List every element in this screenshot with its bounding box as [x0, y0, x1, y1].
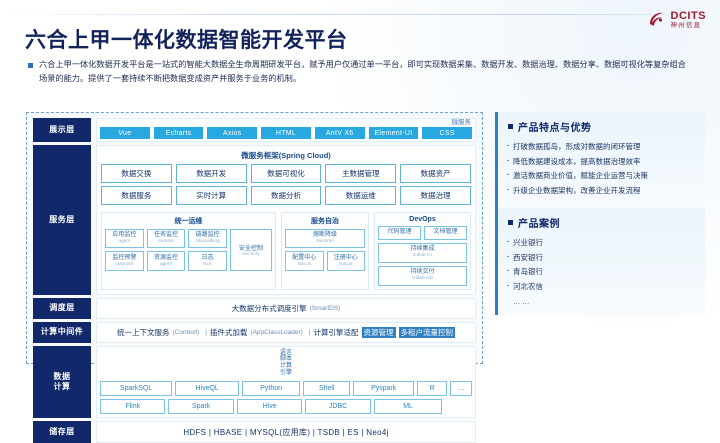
bullet-square-icon — [508, 124, 513, 129]
storage-sep: | — [209, 428, 211, 437]
storage-body: HDFS | HBASE | MYSQL(应用库) | TSDB | ES | … — [96, 421, 476, 443]
mw-part3-cn: 计算引擎适配 — [314, 327, 359, 338]
engine-chip[interactable]: Spark — [168, 399, 233, 414]
language-chip[interactable]: R — [417, 381, 447, 396]
layer-label-compute: 数据 计算 — [33, 346, 91, 419]
side-row2-l1: 计算 — [280, 363, 292, 369]
card-product-features: 产品特点与优势 打破数据孤岛，形成对数据的闭环管理 降低数据建设成本，提高数据治… — [495, 112, 705, 208]
layer-service: 服务层 微服务框架(Spring Cloud) 数据交换 数据开发 数据可视化 … — [33, 145, 476, 295]
schedule-text-en: (SmartDS) — [310, 305, 341, 312]
storage-items: HDFS | HBASE | MYSQL(应用库) | TSDB | ES | … — [97, 422, 475, 442]
case-item: 西安银行 — [508, 251, 695, 266]
language-chip-more[interactable]: … — [450, 381, 472, 396]
header-divider — [0, 14, 720, 15]
card-title: 产品案例 — [518, 215, 560, 230]
tech-tag[interactable]: CSS — [422, 127, 472, 139]
ops-item-en: monitor — [148, 239, 185, 245]
middleware-text: 统一上下文服务 (Context) | 插件式加载 (AppClassLoade… — [97, 323, 475, 342]
feature-item: 激活数据商业价值，赋能企业运营与决策 — [508, 169, 695, 184]
layer-middleware: 计算中间件 统一上下文服务 (Context) | 插件式加载 (AppClas… — [33, 322, 476, 343]
compute-side-labels: 语言 脚本 计算 引擎 — [100, 350, 472, 378]
group-service-autonomy: 服务自治 熔断降级 Sentinel 配置中心 — [281, 212, 369, 290]
devops-item-cn: 代码管理 — [379, 229, 420, 236]
dcits-logo-en: DCITS — [671, 11, 707, 22]
devops-item[interactable]: 持续集成 Gitlab-CI — [378, 243, 467, 263]
compute-main: SparkSQL HiveQL Python Shell Pyspark R …… — [100, 381, 472, 414]
autonomy-stack: 熔断降级 Sentinel 配置中心 Nacos 注册中心 — [285, 229, 365, 272]
autonomy-row: 配置中心 Nacos 注册中心 Nacos — [285, 251, 365, 271]
storage-item[interactable]: ES — [348, 428, 359, 437]
tech-tag[interactable]: HTML — [261, 127, 311, 139]
compute-body: 语言 脚本 计算 引擎 SparkSQL HiveQL Python Shell… — [96, 346, 476, 419]
mw-part2-cn: 插件式加载 — [210, 327, 248, 338]
storage-item[interactable]: TSDB — [318, 428, 341, 437]
mw-part4-cn: 资源管理 — [362, 327, 396, 338]
layer-label-presentation: 展示层 — [33, 118, 91, 142]
autonomy-item-en: Nacos — [328, 262, 365, 268]
presentation-tags: Vue Echarts Axios HTML AntV X6 Element-U… — [97, 127, 475, 141]
ops-item[interactable]: 链路监控 Skywalking — [188, 229, 227, 249]
mw-sep-1: | — [205, 329, 207, 336]
case-item: 青岛银行 — [508, 265, 695, 280]
engine-chip[interactable]: Hive — [237, 399, 302, 414]
case-more: …… — [508, 297, 695, 306]
capability-cell[interactable]: 数据运维 — [325, 186, 396, 205]
case-item: 河北农信 — [508, 280, 695, 295]
language-chip[interactable]: Python — [242, 381, 300, 396]
devops-item[interactable]: 文档管理 — [424, 226, 467, 240]
language-chip[interactable]: SparkSQL — [100, 381, 172, 396]
storage-item[interactable]: Neo4j — [366, 428, 388, 437]
ops-item[interactable]: 资源监控 agent — [147, 251, 186, 271]
storage-item[interactable]: HBASE — [214, 428, 243, 437]
engine-chip[interactable]: JDBC — [305, 399, 370, 414]
service-body: 微服务框架(Spring Cloud) 数据交换 数据开发 数据可视化 主数据管… — [96, 145, 476, 295]
ops-item[interactable]: 应用监控 agent — [105, 229, 144, 249]
autonomy-item[interactable]: 配置中心 Nacos — [285, 251, 324, 271]
mw-part2-en: (AppClassLoader) — [250, 329, 302, 336]
ops-item[interactable]: 任务监控 monitor — [147, 229, 186, 249]
autonomy-item-en: Nacos — [286, 262, 323, 268]
language-chip[interactable]: Pyspark — [353, 381, 414, 396]
capability-cell[interactable]: 主数据管理 — [325, 164, 396, 183]
ops-item-en: agent — [106, 239, 143, 245]
group-title: 服务自治 — [285, 215, 365, 229]
storage-item[interactable]: MYSQL(应用库) — [250, 428, 310, 437]
layer-label-middleware: 计算中间件 — [33, 322, 91, 343]
ops-item-en: Skywalking — [189, 239, 226, 245]
language-chip[interactable]: Shell — [303, 381, 350, 396]
security-cn: 安全控制 — [239, 243, 263, 252]
devops-item-en: Gitlab-CD — [379, 276, 466, 282]
layer-schedule: 调度层 大数据分布式调度引擎 (SmartDS) — [33, 298, 476, 319]
capability-cell[interactable]: 数据服务 — [101, 186, 172, 205]
ops-wrap: 应用监控 agent 任务监控 monitor 链路监控 Skywalking — [105, 229, 272, 272]
mw-part5-cn: 多租户流量控制 — [399, 327, 456, 338]
tech-tag[interactable]: Axios — [207, 127, 257, 139]
bullet-square-icon — [508, 220, 513, 225]
language-row: SparkSQL HiveQL Python Shell Pyspark R … — [100, 381, 472, 396]
ops-grid: 应用监控 agent 任务监控 monitor 链路监控 Skywalking — [105, 229, 227, 272]
ops-item[interactable]: 日志 ELK — [188, 251, 227, 271]
capability-row-1: 数据交换 数据开发 数据可视化 主数据管理 数据资产 — [101, 164, 471, 183]
dcits-logo-cn: 神州信息 — [671, 23, 707, 30]
storage-item[interactable]: HDFS — [183, 428, 206, 437]
case-item: 兴业银行 — [508, 236, 695, 251]
layer-compute: 数据 计算 语言 脚本 计算 引擎 SparkSQ — [33, 346, 476, 419]
layer-storage: 储存层 HDFS | HBASE | MYSQL(应用库) | TSDB | E… — [33, 421, 476, 443]
tech-tag[interactable]: Echarts — [154, 127, 204, 139]
security-control-item[interactable]: 安全控制 Security — [230, 229, 272, 272]
middleware-body: 统一上下文服务 (Context) | 插件式加载 (AppClassLoade… — [96, 322, 476, 343]
layer-label-storage: 储存层 — [33, 421, 91, 443]
feature-item: 打破数据孤岛，形成对数据的闭环管理 — [508, 140, 695, 155]
layer-label-service: 服务层 — [33, 145, 91, 295]
compute-side-engine: 计算 引擎 — [100, 363, 472, 377]
dcits-logo: DCITS 神州信息 — [647, 10, 707, 30]
capability-cell[interactable]: 数据开发 — [176, 164, 247, 183]
schedule-body: 大数据分布式调度引擎 (SmartDS) — [96, 298, 476, 319]
storage-sep: | — [313, 428, 315, 437]
schedule-text-cn: 大数据分布式调度引擎 — [232, 303, 307, 314]
layer-label-schedule: 调度层 — [33, 298, 91, 319]
devops-item[interactable]: 代码管理 — [378, 226, 421, 240]
service-groups: 统一运维 应用监控 agent 任务监控 monitor — [101, 212, 471, 290]
ops-item[interactable]: 监控预警 nMonitor — [105, 251, 144, 271]
autonomy-item[interactable]: 注册中心 Nacos — [327, 251, 366, 271]
presentation-body: 微服务 Vue Echarts Axios HTML AntV X6 Eleme… — [96, 118, 476, 142]
capability-cell[interactable]: 数据可视化 — [251, 164, 322, 183]
feature-item: 降低数据建设成本，提高数据治理效率 — [508, 155, 695, 170]
engine-chip[interactable]: Flink — [100, 399, 165, 414]
slide-page: DCITS 神州信息 六合上甲一体化数据智能开发平台 六合上甲一体化数据开发平台… — [0, 0, 720, 405]
bullet-square-icon — [28, 63, 33, 68]
devops-item[interactable]: 持续交付 Gitlab-CD — [378, 266, 467, 286]
compute-side-language: 语言 脚本 — [100, 350, 472, 364]
security-en: Security — [242, 252, 259, 257]
schedule-text: 大数据分布式调度引擎 (SmartDS) — [97, 299, 475, 318]
feature-item: 升级企业数据架构，改善企业开发流程 — [508, 184, 695, 199]
mw-part1-en: (Context) — [172, 329, 199, 336]
storage-sep: | — [343, 428, 345, 437]
architecture-panel: 展示层 微服务 Vue Echarts Axios HTML AntV X6 E… — [26, 112, 483, 364]
devops-item-cn: 文档管理 — [425, 229, 466, 236]
capability-cell[interactable]: 数据交换 — [101, 164, 172, 183]
capability-cell[interactable]: 数据治理 — [400, 186, 471, 205]
presentation-heading: 微服务 — [97, 119, 475, 127]
mw-part1-cn: 统一上下文服务 — [117, 327, 170, 338]
group-devops: DevOps 代码管理 文档管理 — [374, 212, 471, 290]
group-title: 统一运维 — [105, 215, 272, 229]
dcits-logo-mark-icon — [647, 10, 667, 30]
engine-row: Flink Spark Hive JDBC ML — [100, 399, 472, 414]
autonomy-row: 熔断降级 Sentinel — [285, 229, 365, 249]
devops-item-en: Gitlab-CI — [379, 253, 466, 259]
tech-tag[interactable]: AntV X6 — [315, 127, 365, 139]
dcits-logo-text: DCITS 神州信息 — [671, 11, 707, 30]
page-title: 六合上甲一体化数据智能开发平台 — [25, 24, 348, 54]
tech-tag[interactable]: Vue — [100, 127, 150, 139]
compute-label-line1: 数据 — [54, 372, 71, 381]
mw-sep-2: | — [309, 329, 311, 336]
language-chip[interactable]: HiveQL — [175, 381, 239, 396]
card-header: 产品特点与优势 — [508, 119, 695, 134]
devops-row: 代码管理 文档管理 — [378, 226, 467, 240]
intro-text: 六合上甲一体化数据开发平台是一站式的智能大数据全生命周期研发平台，赋予用户仅通过… — [39, 58, 688, 87]
devops-row: 持续交付 Gitlab-CD — [378, 266, 467, 286]
card-product-cases: 产品案例 兴业银行 西安银行 青岛银行 河北农信 …… — [495, 208, 705, 315]
capability-cell[interactable]: 数据资产 — [400, 164, 471, 183]
storage-sep: | — [361, 428, 363, 437]
autonomy-item[interactable]: 熔断降级 Sentinel — [285, 229, 365, 249]
tech-tag[interactable]: Element-UI — [369, 127, 419, 139]
devops-stack: 代码管理 文档管理 持续集成 Gitlab-CI — [378, 226, 467, 286]
compute-label-line2: 计算 — [54, 382, 71, 391]
devops-row: 持续集成 Gitlab-CI — [378, 243, 467, 263]
capability-cell[interactable]: 数据分析 — [251, 186, 322, 205]
capability-cell[interactable]: 实时计算 — [176, 186, 247, 205]
side-row2-l2: 引擎 — [280, 370, 292, 376]
side-row1-l1: 语言 — [280, 350, 292, 356]
ops-item-en: agent — [148, 262, 185, 268]
capability-row-2: 数据服务 实时计算 数据分析 数据运维 数据治理 — [101, 186, 471, 205]
ops-item-en: ELK — [189, 262, 226, 268]
group-title: DevOps — [378, 215, 467, 226]
autonomy-item-en: Sentinel — [286, 239, 364, 245]
intro-paragraph: 六合上甲一体化数据开发平台是一站式的智能大数据全生命周期研发平台，赋予用户仅通过… — [28, 58, 688, 87]
group-unified-ops: 统一运维 应用监控 agent 任务监控 monitor — [101, 212, 276, 290]
service-framework-title: 微服务框架(Spring Cloud) — [101, 148, 471, 164]
card-title: 产品特点与优势 — [518, 119, 592, 134]
engine-chip[interactable]: ML — [374, 399, 443, 414]
side-row1-l2: 脚本 — [280, 356, 292, 362]
layer-presentation: 展示层 微服务 Vue Echarts Axios HTML AntV X6 E… — [33, 118, 476, 142]
ops-item-en: nMonitor — [106, 262, 143, 268]
card-header: 产品案例 — [508, 215, 695, 230]
storage-sep: | — [245, 428, 247, 437]
